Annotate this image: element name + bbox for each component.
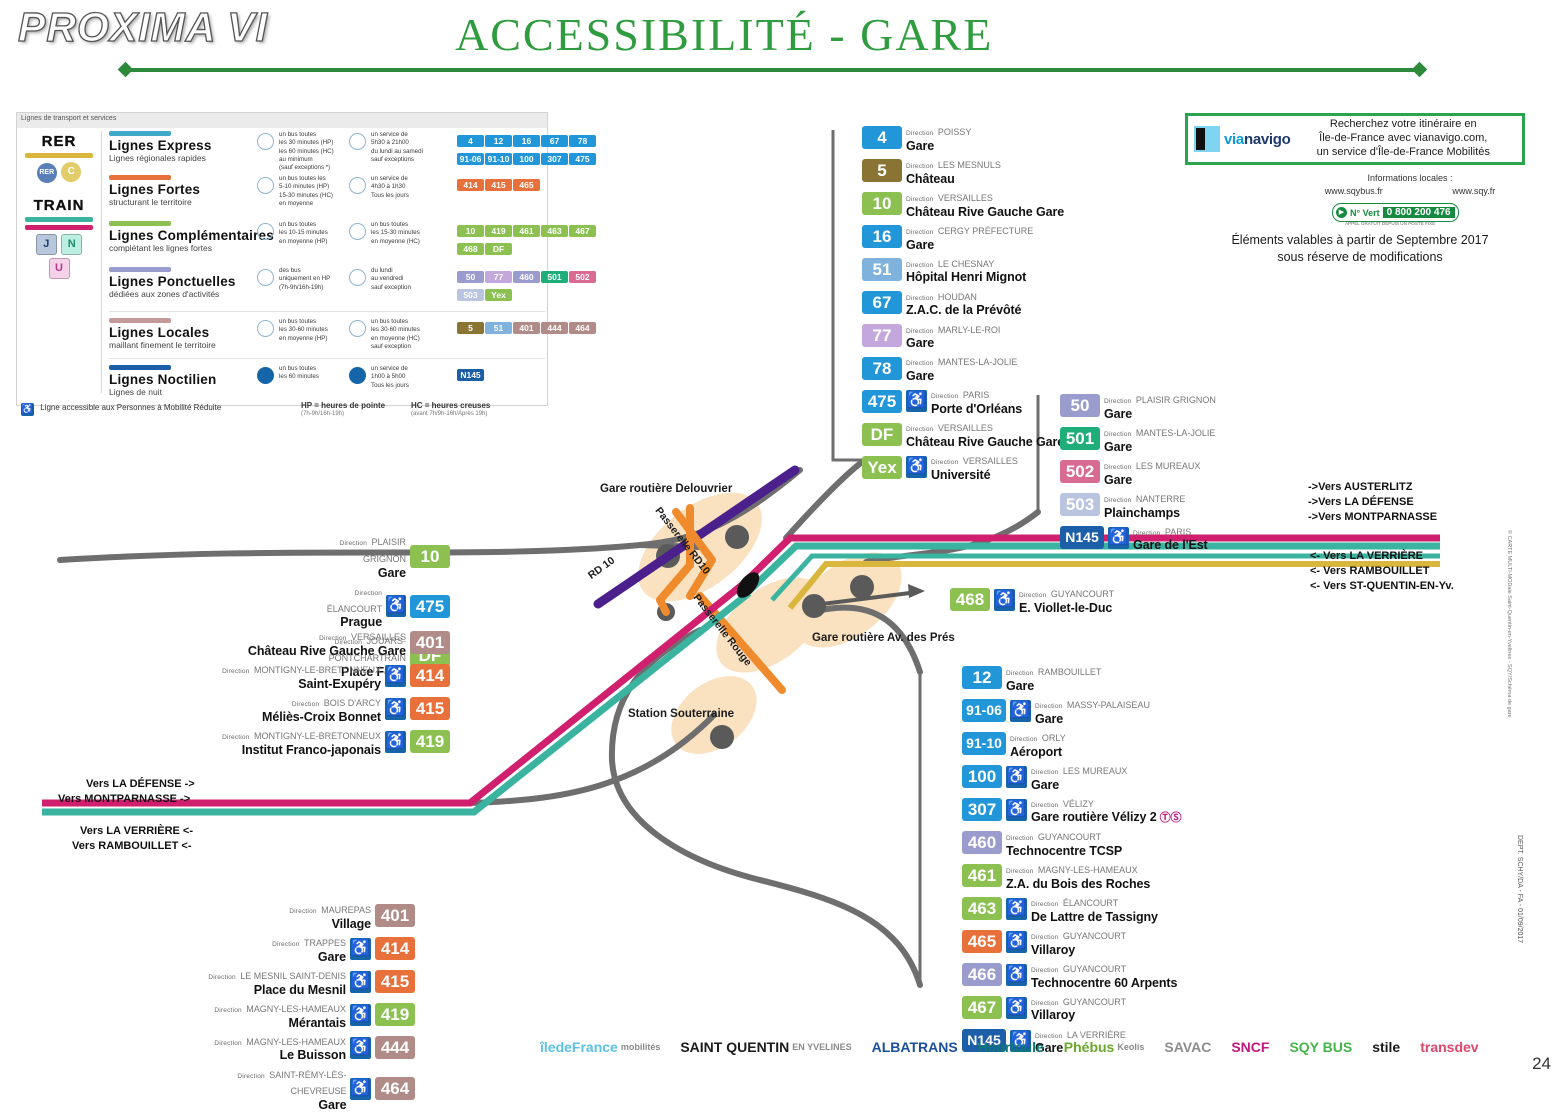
rer-label: RER — [23, 133, 95, 150]
legend-swatch — [109, 365, 171, 370]
legend-line-badge[interactable]: 467 — [569, 225, 596, 237]
legend-modes: RER RER C TRAIN J N U — [23, 133, 95, 279]
line-destination: Gare — [1104, 408, 1216, 421]
line-destination: Gare — [1104, 441, 1215, 454]
line-row-10[interactable]: 10Direction VERSAILLESChâteau Rive Gauch… — [862, 189, 1064, 219]
line-via: CERGY PRÉFECTURE — [938, 226, 1033, 236]
line-badge[interactable]: 466 — [962, 963, 1002, 986]
line-via: MAGNY-LES-HAMEAUX — [246, 1037, 346, 1047]
line-row-475[interactable]: Direction ÉLANCOURTPrague♿475 — [300, 583, 450, 630]
legend-line-badge[interactable]: 419 — [485, 225, 512, 237]
line-row-12[interactable]: 12Direction RAMBOUILLETGare — [962, 663, 1181, 693]
legend-row-5: Lignes Localesmaillant finement le terri… — [109, 318, 545, 350]
tram-connection-icon: ⓉⓈ — [1157, 812, 1182, 824]
line-badge[interactable]: 475 — [862, 390, 902, 413]
line-row-77[interactable]: 77Direction MARLY-LE-ROIGare — [862, 321, 1064, 351]
line-badge[interactable]: 78 — [862, 357, 902, 380]
line-destination: Gare — [906, 337, 1000, 350]
line-badge[interactable]: 464 — [375, 1077, 415, 1100]
train-label: TRAIN — [23, 197, 95, 214]
line-row-91-10[interactable]: 91-10Direction ORLYAéroport — [962, 729, 1181, 759]
direction-word: Direction — [222, 734, 249, 741]
line-badge[interactable]: 50 — [1060, 394, 1100, 417]
wheelchair-icon: ♿ — [1006, 931, 1027, 953]
dir-right-out-0: ->Vers AUSTERLITZ — [1308, 480, 1412, 495]
line-destination-block: Direction POISSYGare — [906, 123, 971, 153]
legend-line-badge[interactable]: 50 — [457, 271, 484, 283]
wheelchair-icon: ♿ — [1006, 997, 1027, 1019]
legend-freq-2: un service de 1h00 à 5h00 Tous les jours — [371, 365, 409, 390]
legend-line-badge[interactable]: 4 — [457, 135, 484, 147]
legend-line-badge[interactable]: 463 — [541, 225, 568, 237]
line-via: MANTES-LA-JOLIE — [1136, 428, 1216, 438]
logo-hourtoule: Hourtoule — [978, 1039, 1044, 1055]
line-badge[interactable]: N145 — [1060, 526, 1104, 549]
wheelchair-icon: ♿ — [385, 731, 406, 753]
line-destination-block: Direction ÉLANCOURTPrague — [300, 583, 382, 630]
line-destination-block: Direction MONTIGNY-LE-BRETONNEUXInstitut… — [222, 727, 381, 757]
line-badge[interactable]: 12 — [962, 666, 1002, 689]
proxima-logo: PROXIMA VI — [18, 4, 268, 51]
legend-panel: Lignes de transport et services RER RER … — [16, 112, 548, 406]
line-destination-block: Direction CERGY PRÉFECTUREGare — [906, 222, 1033, 252]
legend-line-badge[interactable]: 461 — [513, 225, 540, 237]
wheelchair-icon: ♿ — [906, 390, 927, 412]
line-destination: Gare routière Vélizy 2 ⓉⓈ — [1031, 811, 1181, 825]
direction-word: Direction — [214, 1040, 241, 1047]
logo-text: ALBATRANS — [872, 1039, 958, 1055]
line-destination-block: Direction GUYANCOURTTechnocentre 60 Arpe… — [1031, 960, 1177, 990]
legend-row-4: Lignes Ponctuellesdédiées aux zones d'ac… — [109, 267, 545, 299]
line-row-464[interactable]: Direction SAINT-RÉMY-LÈS-CHEVREUSEGare♿4… — [185, 1066, 415, 1113]
legend-freq-1: un bus toutes les 30-60 minutes en moyen… — [279, 318, 328, 343]
line-destination: Plainchamps — [1104, 507, 1185, 520]
rer-bar — [25, 153, 93, 158]
logo-text: SAVAC — [1164, 1039, 1211, 1055]
line-destination-block: Direction VERSAILLESChâteau Rive Gauche … — [248, 628, 406, 658]
line-row-415[interactable]: Direction BOIS D'ARCYMéliès-Croix Bonnet… — [220, 694, 450, 724]
line-via: MASSY-PALAISEAU — [1067, 700, 1150, 710]
line-destination-block: Direction PARISGare de l'Est — [1133, 523, 1208, 553]
line-row-444[interactable]: Direction MAGNY-LES-HAMEAUXLe Buisson♿44… — [185, 1033, 415, 1063]
legend-freq-1: un bus toutes les 10-15 minutes en moyen… — [279, 221, 328, 246]
line-badge[interactable]: 77 — [862, 324, 902, 347]
legend-line-badge[interactable]: 475 — [569, 153, 596, 165]
line-row-419[interactable]: Direction MAGNY-LES-HAMEAUXMérantais♿419 — [185, 1000, 415, 1030]
legend-line-badge[interactable]: 78 — [569, 135, 596, 147]
line-destination: Place du Mesnil — [208, 984, 346, 997]
legend-line-badge[interactable]: DF — [485, 243, 512, 255]
line-badge[interactable]: 414 — [375, 937, 415, 960]
line-destination: Technocentre TCSP — [1006, 845, 1122, 858]
line-destination-block: Direction LE MESNIL SAINT-DENISPlace du … — [208, 967, 346, 997]
line-row-100[interactable]: 100♿Direction LES MUREAUXGare — [962, 762, 1181, 792]
line-via: POISSY — [938, 127, 972, 137]
line-row-502[interactable]: 502Direction LES MUREAUXGare — [1060, 457, 1216, 487]
line-badge[interactable]: 465 — [962, 930, 1002, 953]
line-badge[interactable]: DF — [862, 423, 902, 446]
legend-line-badge[interactable]: 460 — [513, 271, 540, 283]
line-badge[interactable]: 67 — [862, 291, 902, 314]
line-row-419[interactable]: Direction MONTIGNY-LE-BRETONNEUXInstitut… — [220, 727, 450, 757]
line-row-67[interactable]: 67Direction HOUDANZ.A.C. de la Prévôté — [862, 288, 1064, 318]
legend-line-badge[interactable]: 503 — [457, 289, 484, 301]
line-row-461[interactable]: 461Direction MAGNY-LES-HAMEAUXZ.A. du Bo… — [962, 861, 1181, 891]
hp-label: HP = heures de pointe — [301, 401, 385, 410]
legend-row-6: Lignes NoctilienLignes de nuitun bus tou… — [109, 365, 545, 397]
frequency-clock-icon-2 — [349, 177, 366, 194]
line-destination: Z.A.C. de la Prévôté — [906, 304, 1021, 317]
line-destination: Institut Franco-japonais — [222, 744, 381, 757]
logo-transdev: transdev — [1420, 1039, 1478, 1055]
line-via: RAMBOUILLET — [1038, 667, 1102, 677]
line-destination: Château — [906, 173, 1001, 186]
logo-text: îledeFrance — [540, 1039, 618, 1055]
vert-number: 0 800 200 476 — [1383, 207, 1455, 218]
line-destination: Porte d'Orléans — [931, 403, 1022, 416]
line-badge[interactable]: 463 — [962, 897, 1002, 920]
line-via: SAINT-RÉMY-LÈS-CHEVREUSE — [269, 1070, 346, 1097]
line-destination-block: Direction PLAISIR GRIGNONGare — [300, 533, 406, 580]
line-row-10[interactable]: Direction PLAISIR GRIGNONGare10 — [300, 533, 450, 580]
line-list-bottom-right: 12Direction RAMBOUILLETGare91-06♿Directi… — [962, 660, 1181, 1058]
line-via: GUYANCOURT — [1038, 832, 1101, 842]
line-destination: Gare — [906, 370, 1017, 383]
logo-phebus-keolis: PhébusKeolis — [1064, 1039, 1145, 1055]
line-via: VERSAILLES — [938, 423, 993, 433]
logo-sncf: SNCF — [1231, 1039, 1269, 1055]
rer-badge-c: C — [61, 162, 81, 182]
direction-word: Direction — [214, 1007, 241, 1014]
wheelchair-icon: ♿ — [1108, 527, 1129, 549]
line-destination: Mérantais — [214, 1017, 346, 1030]
info-site-row: www.sqybus.fr www.sqy.fr — [1290, 185, 1530, 198]
line-badge[interactable]: 16 — [862, 225, 902, 248]
legend-line-badge[interactable]: 444 — [541, 322, 568, 334]
line-destination-block: Direction TRAPPESGare — [272, 934, 346, 964]
line-row-415[interactable]: Direction LE MESNIL SAINT-DENISPlace du … — [185, 967, 415, 997]
frequency-clock-icon-2 — [349, 269, 366, 286]
legend-freq-2: un bus toutes les 15-30 minutes en moyen… — [371, 221, 420, 246]
dir-right-in-2: <- Vers ST-QUENTIN-EN-Yv. — [1310, 579, 1454, 594]
line-row-78[interactable]: 78Direction MANTES-LA-JOLIEGare — [862, 353, 1064, 383]
line-via: MONTIGNY-LE-BRETONNEUX — [254, 731, 381, 741]
direction-word: Direction — [1010, 736, 1037, 743]
rer-badge-b: RER — [37, 163, 57, 183]
line-destination: Château Rive Gauche Gare — [906, 206, 1064, 219]
line-badge[interactable]: 419 — [410, 730, 450, 753]
direction-word: Direction — [906, 130, 933, 137]
direction-word: Direction — [1104, 497, 1131, 504]
line-badge[interactable]: 307 — [962, 798, 1002, 821]
frequency-clock-icon — [257, 320, 274, 337]
line-badge[interactable]: 10 — [410, 545, 450, 568]
line-via: PLAISIR GRIGNON — [363, 537, 406, 564]
logo-text: SQY BUS — [1289, 1039, 1352, 1055]
legend-row-1: Lignes ExpressLignes régionales rapidesu… — [109, 131, 545, 163]
legend-line-badge[interactable]: 12 — [485, 135, 512, 147]
direction-word: Direction — [272, 941, 299, 948]
line-destination: Saint-Exupéry — [222, 678, 381, 691]
line-destination: Gare — [272, 951, 346, 964]
line-badge[interactable]: 91-10 — [962, 732, 1006, 755]
legend-badge-grid: 551401444464 — [457, 318, 597, 336]
direction-word: Direction — [906, 262, 933, 269]
credit-big: DEPT. SCHY/DA - FA - 01/09/2017 — [1516, 835, 1523, 943]
line-badge[interactable]: 415 — [375, 970, 415, 993]
train-badge-j: J — [36, 234, 57, 255]
direction-word: Direction — [1035, 703, 1062, 710]
direction-word: Direction — [340, 540, 367, 547]
line-row-468: 468♿Direction GUYANCOURTE. Viollet-le-Du… — [950, 582, 1114, 618]
line-badge[interactable]: 467 — [962, 996, 1002, 1019]
direction-word: Direction — [906, 426, 933, 433]
line-destination: Gare — [300, 567, 406, 580]
line-row-50[interactable]: 50Direction PLAISIR GRIGNONGare — [1060, 391, 1216, 421]
direction-word: Direction — [1019, 592, 1046, 599]
line-via: NANTERRE — [1136, 494, 1186, 504]
line-row-501[interactable]: 501Direction MANTES-LA-JOLIEGare — [1060, 424, 1216, 454]
line-badge[interactable]: 501 — [1060, 427, 1100, 450]
partner-logos: îledeFrancemobilitésSAINT QUENTINEN YVEL… — [540, 1018, 1530, 1076]
legend-line-badge[interactable]: 5 — [457, 322, 484, 334]
line-badge[interactable]: 5 — [862, 159, 902, 182]
direction-word: Direction — [1031, 934, 1058, 941]
line-badge[interactable]: Yex — [862, 456, 902, 479]
line-destination-block: Direction MAUREPASVillage — [289, 901, 371, 931]
line-via: GUYANCOURT — [1063, 964, 1126, 974]
line-destination-block: Direction VERSAILLESUniversité — [931, 452, 1018, 482]
wheelchair-icon: ♿ — [21, 403, 34, 416]
line-row-51[interactable]: 51Direction LE CHESNAYHôpital Henri Mign… — [862, 255, 1064, 285]
line-destination-block: Direction PLAISIR GRIGNONGare — [1104, 391, 1216, 421]
legend-line-badge[interactable]: 51 — [485, 322, 512, 334]
vert-label: N° Vert — [1350, 208, 1380, 218]
line-destination-block: Direction HOUDANZ.A.C. de la Prévôté — [906, 288, 1021, 318]
line-row-414[interactable]: Direction MONTIGNY-LE-BRETONNEUXSaint-Ex… — [220, 661, 450, 691]
line-destination-block: Direction SAINT-RÉMY-LÈS-CHEVREUSEGare — [185, 1066, 346, 1113]
line-row-401[interactable]: Direction MAUREPASVillage401 — [185, 901, 415, 931]
legend-badge-grid: 5077460501502503Yex — [457, 267, 597, 303]
line-badge[interactable]: 468 — [950, 588, 990, 611]
vianavigo-text: Recherchez votre itinéraire en Île-de-Fr… — [1291, 118, 1523, 159]
legend-line-badge[interactable]: 67 — [541, 135, 568, 147]
line-via: VERSAILLES — [938, 193, 993, 203]
line-row-466[interactable]: 466♿Direction GUYANCOURTTechnocentre 60 … — [962, 960, 1181, 990]
site-sqy[interactable]: www.sqy.fr — [1452, 185, 1495, 198]
line-via: ORLY — [1042, 733, 1066, 743]
line-destination-block: Direction RAMBOUILLETGare — [1006, 663, 1101, 693]
frequency-clock-icon-2 — [349, 367, 366, 384]
rer-badges: RER C — [23, 161, 95, 183]
line-row-4[interactable]: 4Direction POISSYGare — [862, 123, 1064, 153]
wheelchair-icon: ♿ — [350, 1078, 371, 1100]
line-badge[interactable]: 4 — [862, 126, 902, 149]
line-badge[interactable]: 100 — [962, 765, 1002, 788]
line-destination-block: Direction MAGNY-LES-HAMEAUXLe Buisson — [214, 1033, 346, 1063]
line-badge[interactable]: 401 — [375, 904, 415, 927]
dir-left-in-0: Vers LA VERRIÈRE <- — [80, 824, 193, 839]
direction-word: Direction — [292, 701, 319, 708]
line-via: HOUDAN — [938, 292, 977, 302]
line-row-465[interactable]: 465♿Direction GUYANCOURTVillaroy — [962, 927, 1181, 957]
frequency-clock-icon — [257, 367, 274, 384]
line-via: LE MESNIL SAINT-DENIS — [240, 971, 346, 981]
legend-freq-1: un bus toutes les 60 minutes — [279, 365, 319, 382]
line-badge[interactable]: 461 — [962, 864, 1002, 887]
legend-line-badge[interactable]: 465 — [513, 179, 540, 191]
line-row-DF[interactable]: DFDirection VERSAILLESChâteau Rive Gauch… — [862, 419, 1064, 449]
logo-albatrans: ALBATRANS — [872, 1039, 958, 1055]
logo-ile-de-france-mobilites: îledeFrancemobilités — [540, 1039, 660, 1055]
line-via: LES MESNULS — [938, 160, 1001, 170]
line-via: ÉLANCOURT — [1063, 898, 1118, 908]
legend-row-3: Lignes Complémentairescomplétant les lig… — [109, 221, 545, 253]
wheelchair-icon: ♿ — [1010, 700, 1031, 722]
line-row-Yex[interactable]: Yex♿Direction VERSAILLESUniversité — [862, 452, 1064, 482]
line-badge[interactable]: 502 — [1060, 460, 1100, 483]
line-row-503[interactable]: 503Direction NANTERREPlainchamps — [1060, 490, 1216, 520]
line-destination-block: Direction PARISPorte d'Orléans — [931, 386, 1022, 416]
legend-line-badge[interactable]: 401 — [513, 322, 540, 334]
line-row-460[interactable]: 460Direction GUYANCOURTTechnocentre TCSP — [962, 828, 1181, 858]
legend-line-badge[interactable]: 414 — [457, 179, 484, 191]
line-destination-block: Direction MANTES-LA-JOLIEGare — [906, 353, 1017, 383]
vianavigo-box[interactable]: vianavigo Recherchez votre itinéraire en… — [1185, 113, 1525, 165]
line-row-468[interactable]: 468♿Direction GUYANCOURTE. Viollet-le-Du… — [950, 585, 1114, 615]
line-badge[interactable]: 414 — [410, 664, 450, 687]
logo-savac: SAVAC — [1164, 1039, 1211, 1055]
line-badge[interactable]: 91-06 — [962, 699, 1006, 722]
direction-word: Direction — [906, 229, 933, 236]
line-badge[interactable]: 419 — [375, 1003, 415, 1026]
direction-word: Direction — [1031, 901, 1058, 908]
line-badge[interactable]: 10 — [862, 192, 902, 215]
line-list-left-mid: Direction VERSAILLESChâteau Rive Gauche … — [220, 625, 450, 760]
line-row-91-06[interactable]: 91-06♿Direction MASSY-PALAISEAUGare — [962, 696, 1181, 726]
legend-line-badge[interactable]: 77 — [485, 271, 512, 283]
line-via: TRAPPES — [304, 938, 346, 948]
line-badge[interactable]: 444 — [375, 1036, 415, 1059]
legend-line-badge[interactable]: 502 — [569, 271, 596, 283]
line-via: BOIS D'ARCY — [324, 698, 381, 708]
legend-line-badge[interactable]: 10 — [457, 225, 484, 237]
line-destination: Hôpital Henri Mignot — [906, 271, 1026, 284]
legend-divider — [101, 131, 102, 393]
line-destination: Aéroport — [1010, 746, 1066, 759]
direction-word: Direction — [1104, 431, 1131, 438]
legend-line-badge[interactable]: 464 — [569, 322, 596, 334]
wheelchair-icon: ♿ — [350, 1004, 371, 1026]
legend-freq-1: un bus toutes les 5-10 minutes (HP) 15-3… — [279, 175, 333, 208]
line-destination-block: Direction GUYANCOURTTechnocentre TCSP — [1006, 828, 1122, 858]
line-row-N145[interactable]: N145♿Direction PARISGare de l'Est — [1060, 523, 1216, 553]
legend-line-badge[interactable]: Yex — [485, 289, 512, 301]
legend-line-badge[interactable]: N145 — [457, 369, 484, 381]
line-destination: Méliès-Croix Bonnet — [262, 711, 381, 724]
legend-row-desc: Lignes de nuit — [109, 387, 545, 397]
site-sqybus[interactable]: www.sqybus.fr — [1325, 185, 1383, 198]
line-row-414[interactable]: Direction TRAPPESGare♿414 — [185, 934, 415, 964]
dir-right-in-0: <- Vers LA VERRIÈRE — [1310, 549, 1423, 564]
logo-subtext: Keolis — [1117, 1042, 1144, 1052]
dir-right-out-1: ->Vers LA DÉFENSE — [1308, 495, 1414, 510]
direction-word: Direction — [906, 328, 933, 335]
dir-right-out-2: ->Vers MONTPARNASSE — [1308, 510, 1437, 525]
legend-line-badge[interactable]: 91-10 — [485, 153, 512, 165]
legend-freq-1: des bus uniquement en HP (7h-9h/16h-19h) — [279, 267, 330, 292]
pmr-note-row: ♿ Ligne accessible aux Personnes à Mobil… — [21, 403, 561, 416]
wheelchair-icon: ♿ — [350, 938, 371, 960]
legend-freq-2: un service de 4h30 à 1h30 Tous les jours — [371, 175, 409, 200]
line-badge[interactable]: 503 — [1060, 493, 1100, 516]
wheelchair-icon: ♿ — [1006, 766, 1027, 788]
direction-word: Direction — [1104, 464, 1131, 471]
legend-badge-grid: 10419461463467468DF — [457, 221, 597, 257]
legend-swatch — [109, 267, 171, 272]
line-row-475[interactable]: 475♿Direction PARISPorte d'Orléans — [862, 386, 1064, 416]
legend-line-badge[interactable]: 100 — [513, 153, 540, 165]
legend-line-badge[interactable]: 307 — [541, 153, 568, 165]
line-badge[interactable]: 415 — [410, 697, 450, 720]
line-via: LE CHESNAY — [938, 259, 994, 269]
line-row-401[interactable]: Direction VERSAILLESChâteau Rive Gauche … — [220, 628, 450, 658]
wheelchair-icon: ♿ — [385, 665, 406, 687]
legend-line-badge[interactable]: 16 — [513, 135, 540, 147]
legend-line-badge[interactable]: 91-06 — [457, 153, 484, 165]
line-row-16[interactable]: 16Direction CERGY PRÉFECTUREGare — [862, 222, 1064, 252]
line-destination: Gare — [1035, 713, 1150, 726]
legend-line-badge[interactable]: 415 — [485, 179, 512, 191]
legend-swatch — [109, 221, 171, 226]
line-destination: Gare — [1006, 680, 1101, 693]
legend-swatch — [109, 175, 171, 180]
wheelchair-icon: ♿ — [385, 698, 406, 720]
line-destination: Château Rive Gauche Gare — [248, 645, 406, 658]
line-row-307[interactable]: 307♿Direction VÉLIZYGare routière Vélizy… — [962, 795, 1181, 825]
logo-text: stile — [1372, 1039, 1400, 1055]
hp-sub: (7h-9h/16h-19h) — [301, 411, 344, 417]
logo-subtext: EN YVELINES — [792, 1042, 851, 1052]
logo-text: SNCF — [1231, 1039, 1269, 1055]
legend-swatch — [109, 318, 171, 323]
logo-stile: stile — [1372, 1039, 1400, 1055]
line-destination: Z.A. du Bois des Roches — [1006, 878, 1150, 891]
hc-sub: (avant 7h/9h-16h/Après 19h) — [411, 411, 487, 417]
legend-line-badge[interactable]: 501 — [541, 271, 568, 283]
line-row-5[interactable]: 5Direction LES MESNULSChâteau — [862, 156, 1064, 186]
line-destination-block: Direction ÉLANCOURTDe Lattre de Tassigny — [1031, 894, 1158, 924]
line-destination-block: Direction MANTES-LA-JOLIEGare — [1104, 424, 1215, 454]
hc-label: HC = heures creuses — [411, 401, 490, 410]
line-destination-block: Direction VERSAILLESChâteau Rive Gauche … — [906, 419, 1064, 449]
direction-word: Direction — [289, 908, 316, 915]
direction-word: Direction — [931, 459, 958, 466]
legend-line-badge[interactable]: 468 — [457, 243, 484, 255]
line-badge[interactable]: 460 — [962, 831, 1002, 854]
line-via: PARIS — [963, 390, 989, 400]
wheelchair-icon: ♿ — [350, 971, 371, 993]
wheelchair-icon: ♿ — [1006, 799, 1027, 821]
legend-hr — [109, 358, 545, 359]
legend-row-2: Lignes Fortesstructurant le territoireun… — [109, 175, 545, 207]
title-divider — [125, 68, 1420, 72]
page-title: ACCESSIBILITÉ - GARE — [455, 8, 993, 61]
line-badge[interactable]: 475 — [410, 595, 450, 618]
line-row-463[interactable]: 463♿Direction ÉLANCOURTDe Lattre de Tass… — [962, 894, 1181, 924]
line-badge[interactable]: 401 — [410, 631, 450, 654]
line-badge[interactable]: 51 — [862, 258, 902, 281]
